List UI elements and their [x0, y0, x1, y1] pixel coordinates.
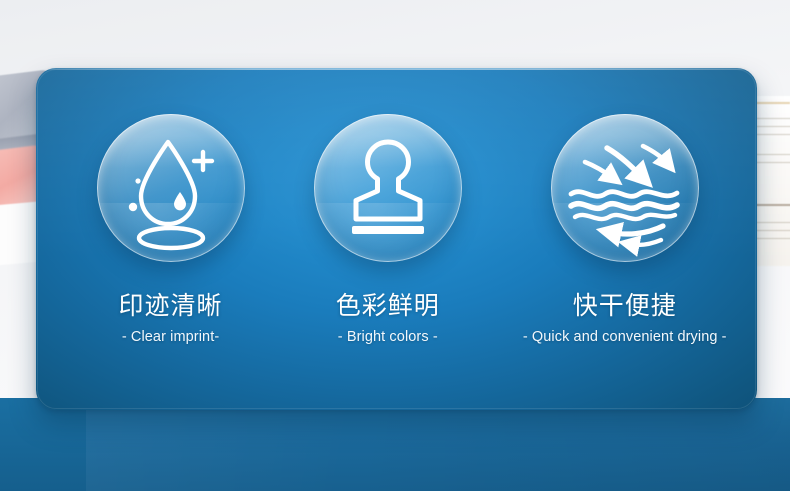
background-blue-band-left: [0, 398, 86, 491]
airflow-waves-glyph: [551, 114, 699, 262]
feature-subtitle-en: - Bright colors -: [283, 329, 492, 345]
feature-subtitle-en: - Quick and convenient drying -: [492, 329, 757, 345]
feature-card: 印迹清晰 - Clear imprint- 色彩鲜明 - Bright colo…: [36, 68, 757, 410]
feature-item-clear-imprint[interactable]: 印迹清晰 - Clear imprint-: [58, 68, 283, 345]
airflow-drying-waves-icon: [551, 114, 699, 262]
feature-subtitle-en: - Clear imprint-: [58, 329, 283, 345]
feature-title-cn: 色彩鲜明: [283, 292, 492, 320]
feature-item-quick-drying[interactable]: 快干便捷 - Quick and convenient drying -: [492, 68, 757, 345]
feature-item-bright-colors[interactable]: 色彩鲜明 - Bright colors -: [283, 68, 492, 345]
water-droplet-plus-icon: [97, 114, 245, 262]
rubber-stamp-icon: [314, 114, 462, 262]
feature-title-cn: 印迹清晰: [58, 292, 283, 320]
feature-title-cn: 快干便捷: [492, 292, 757, 320]
background-blue-band: [0, 398, 790, 491]
feature-list: 印迹清晰 - Clear imprint- 色彩鲜明 - Bright colo…: [36, 68, 757, 410]
droplet-glyph: [97, 114, 245, 262]
stamp-glyph: [314, 114, 462, 262]
